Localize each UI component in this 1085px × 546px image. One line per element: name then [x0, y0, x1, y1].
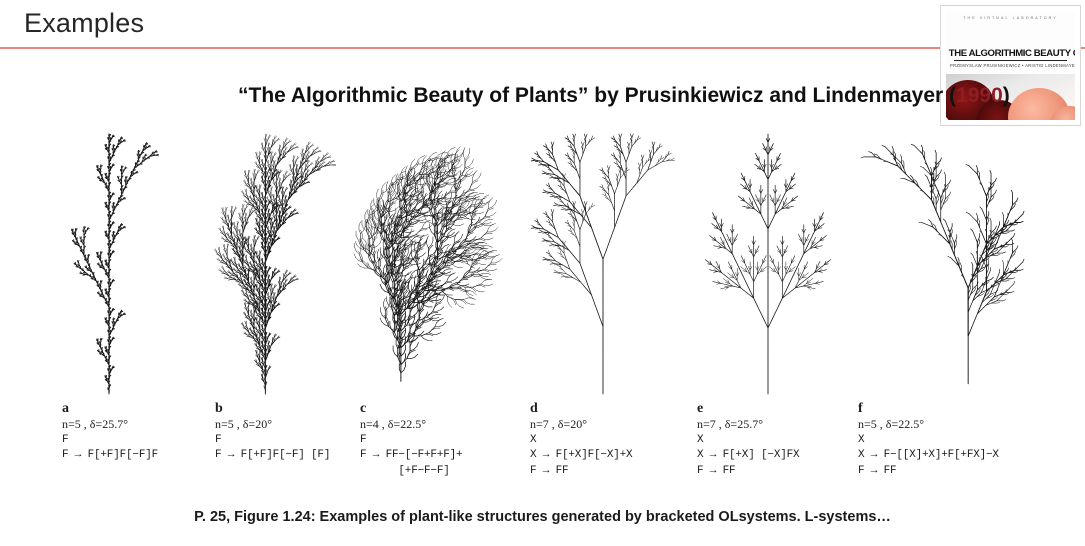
figure-caption: P. 25, Figure 1.24: Examples of plant-li… — [0, 509, 1085, 525]
formula-d: dn=7 , δ=20°XX → F[+X]F[−X]+XF → FF — [530, 400, 632, 479]
formula-parameters: n=7 , δ=25.7° — [697, 417, 799, 433]
formula-e: en=7 , δ=25.7°XX → F[+X] [−X]FXF → FF — [697, 400, 799, 479]
formula-parameters: n=7 , δ=20° — [530, 417, 632, 433]
formula-label: e — [697, 400, 799, 417]
subtitle-text-before: “The Algorithmic Beauty of Plants” by Pr… — [238, 84, 956, 107]
formula-parameters: n=5 , δ=25.7° — [62, 417, 158, 433]
page-title: Examples — [24, 8, 144, 39]
formula-axiom: F — [215, 433, 330, 449]
formula-rule: F → F[+F]F[−F]F — [62, 448, 158, 464]
formula-rule: X → F−[[X]+X]+F[+FX]−X — [858, 448, 999, 464]
plant-figures — [0, 128, 1085, 400]
formula-label: b — [215, 400, 330, 417]
figure-subtitle: “The Algorithmic Beauty of Plants” by Pr… — [238, 84, 1010, 108]
formula-list: an=5 , δ=25.7°FF → F[+F]F[−F]F bn=5 , δ=… — [0, 400, 1085, 500]
formula-label: a — [62, 400, 158, 417]
formula-rule: F → FF−[−F+F+F]+ — [360, 448, 462, 464]
plant-e — [688, 128, 848, 400]
formula-axiom: X — [858, 433, 999, 449]
book-title-label: THE ALGORITHMIC BEAUTY OF PLANTS — [949, 47, 1072, 58]
formula-f: fn=5 , δ=22.5°XX → F−[[X]+X]+F[+FX]−XF →… — [858, 400, 999, 479]
formula-b: bn=5 , δ=20°FF → F[+F]F[−F] [F] — [215, 400, 330, 464]
formula-axiom: F — [360, 433, 462, 449]
formula-parameters: n=5 , δ=20° — [215, 417, 330, 433]
formula-parameters: n=4 , δ=22.5° — [360, 417, 462, 433]
subtitle-text-after: ) — [1003, 84, 1010, 107]
formula-parameters: n=5 , δ=22.5° — [858, 417, 999, 433]
formula-rule: F → F[+F]F[−F] [F] — [215, 448, 330, 464]
formula-axiom: F — [62, 433, 158, 449]
formula-c: cn=4 , δ=22.5°FF → FF−[−F+F+F]+ [+F−F−F] — [360, 400, 462, 479]
formula-label: d — [530, 400, 632, 417]
subtitle-year: 1990 — [956, 84, 1003, 107]
formula-rule: F → FF — [858, 464, 999, 480]
formula-label: f — [858, 400, 999, 417]
slide: Examples THE VIRTUAL LABORATORY THE ALGO… — [0, 0, 1085, 546]
plant-f — [855, 128, 1030, 400]
formula-axiom: X — [530, 433, 632, 449]
plant-a — [40, 128, 190, 400]
formula-rule: [+F−F−F] — [360, 464, 462, 480]
title-divider — [0, 47, 1085, 49]
book-title-divider — [954, 60, 1067, 61]
formula-rule: X → F[+X]F[−X]+X — [530, 448, 632, 464]
formula-rule: F → FF — [697, 464, 799, 480]
formula-label: c — [360, 400, 462, 417]
formula-axiom: X — [697, 433, 799, 449]
plant-b — [200, 128, 350, 400]
formula-rule: X → F[+X] [−X]FX — [697, 448, 799, 464]
plant-d — [518, 128, 688, 400]
book-series-label: THE VIRTUAL LABORATORY — [946, 16, 1075, 20]
formula-a: an=5 , δ=25.7°FF → F[+F]F[−F]F — [62, 400, 158, 464]
formula-rule: F → FF — [530, 464, 632, 480]
book-authors-label: PRZEMYSLAW PRUSINKIEWICZ • ARISTID LINDE… — [950, 63, 1071, 68]
plant-c — [348, 128, 508, 400]
